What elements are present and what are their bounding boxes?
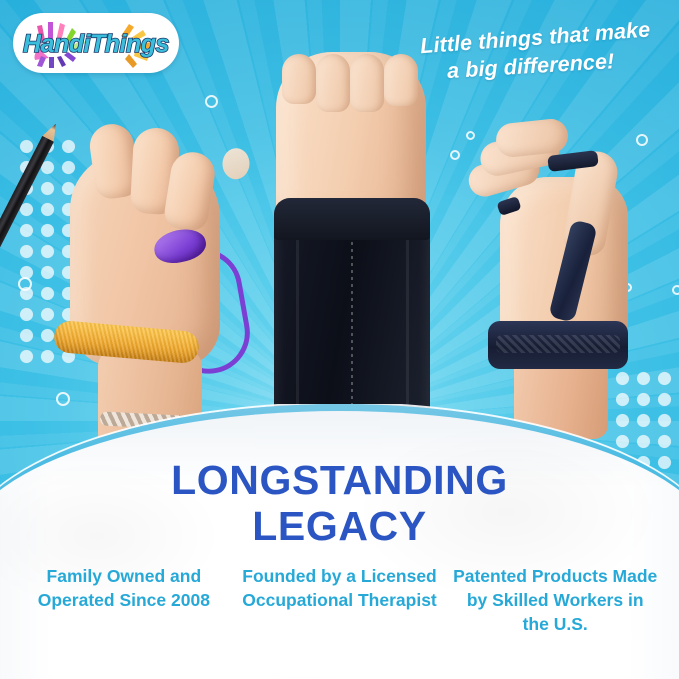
panel-content: LONGSTANDING LEGACY Family Owned and Ope… bbox=[0, 404, 679, 679]
headline-line-2: LEGACY bbox=[0, 504, 679, 550]
brand-banner-poster: HandiThings Little things that make a bi… bbox=[0, 0, 679, 679]
photo-hand-holding-pencil-with-grips bbox=[52, 118, 257, 438]
knuckle-4 bbox=[384, 54, 418, 106]
knuckle-2 bbox=[316, 54, 350, 112]
handithings-logo: HandiThings bbox=[21, 16, 171, 70]
navy-splint-wrist-cuff bbox=[488, 321, 628, 369]
value-prop-family-owned: Family Owned and Operated Since 2008 bbox=[16, 564, 232, 636]
value-props-row: Family Owned and Operated Since 2008 Fou… bbox=[16, 564, 663, 636]
photo-fist-with-black-wrist-brace bbox=[250, 40, 450, 440]
value-prop-founded-by-ot: Founded by a Licensed Occupational Thera… bbox=[232, 564, 448, 636]
knuckle-3 bbox=[350, 54, 384, 112]
page-title: LONGSTANDING LEGACY bbox=[0, 458, 679, 550]
knuckle-1 bbox=[282, 54, 316, 104]
svg-text:HandiThings: HandiThings bbox=[23, 30, 169, 58]
brand-logo-badge[interactable]: HandiThings bbox=[13, 13, 179, 73]
photo-hand-with-navy-thumb-splint bbox=[462, 125, 662, 435]
value-prop-patented-products: Patented Products Made by Skilled Worker… bbox=[447, 564, 663, 636]
headline-line-1: LONGSTANDING bbox=[171, 457, 508, 503]
pencil-icon bbox=[0, 135, 54, 435]
